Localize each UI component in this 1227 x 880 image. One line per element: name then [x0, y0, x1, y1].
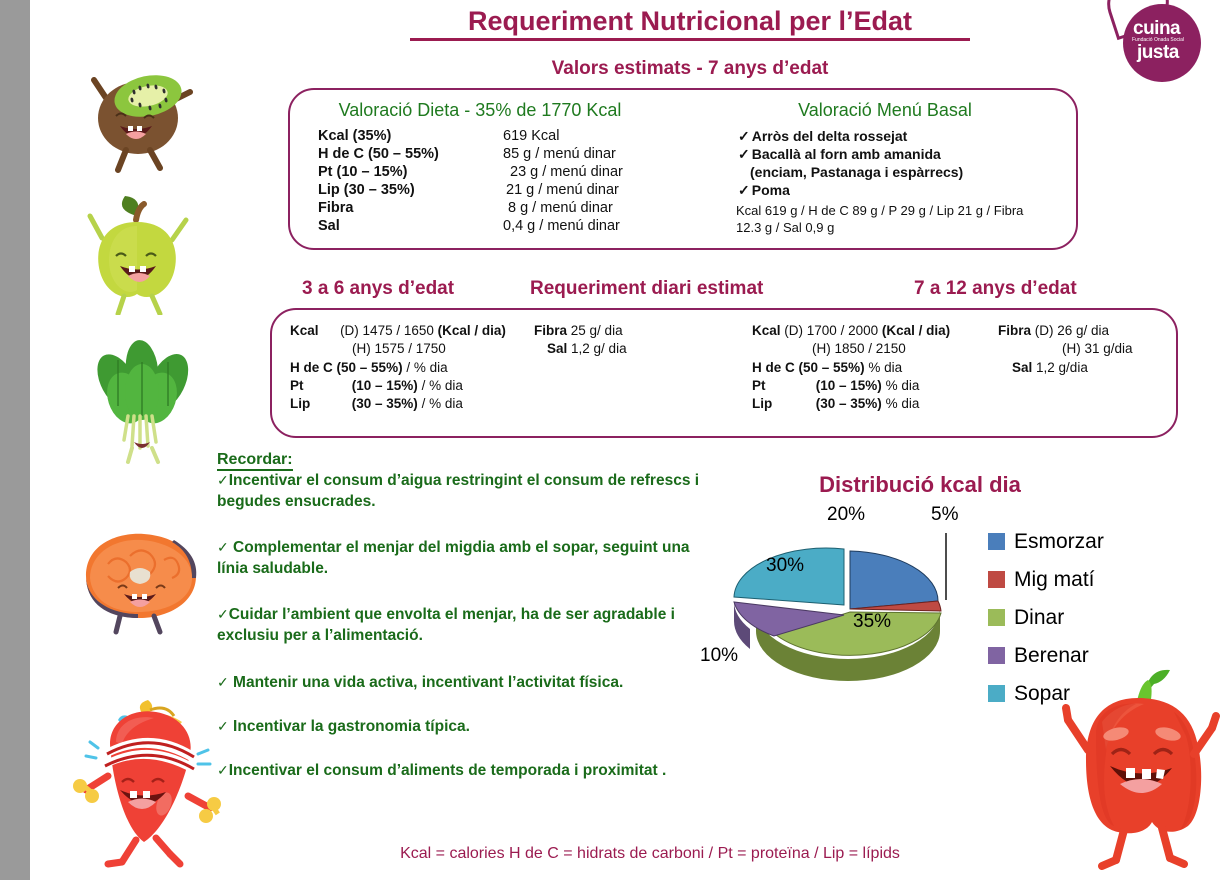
- dieta-label-0: Kcal (35%): [318, 128, 391, 144]
- pie-chart: 20% 5% 35% 10% 30%: [698, 505, 998, 695]
- req712-row1-label: Pt: [752, 377, 812, 395]
- req712-row2-unit: % dia: [886, 396, 920, 411]
- basal-item-3: Poma: [752, 182, 790, 198]
- dieta-value-2: 23 g / menú dinar: [510, 164, 623, 180]
- recordar-item-0-text: Incentivar el consum d’aigua restringint…: [217, 472, 699, 510]
- recordar-item-5: ✓Incentivar el consum d’aliments de temp…: [217, 760, 717, 781]
- recordar-item-5-text: Incentivar el consum d’aliments de tempo…: [229, 762, 667, 779]
- req36-kcal-h: (H) 1575 / 1750: [352, 341, 446, 356]
- dieta-value-4: 8 g / menú dinar: [508, 200, 613, 216]
- slide-canvas: 25 anys cuina Fundació Onada Social just…: [30, 0, 1227, 880]
- kiwi-mascot: [78, 58, 198, 173]
- recordar-title: Recordar:: [217, 450, 293, 471]
- req36-kcal-label: Kcal: [290, 323, 319, 338]
- req36-kcal-d: (D) 1475 / 1650: [340, 323, 434, 338]
- estimated-values-box: Valoració Dieta - 35% de 1770 Kcal Kcal …: [288, 88, 1078, 250]
- footer-legend-text: Kcal = calories H de C = hidrats de carb…: [290, 845, 1010, 863]
- legend-swatch-esmorzar: [988, 533, 1005, 550]
- req36-row0-label: H de C: [290, 360, 333, 375]
- req712-kcal-label: Kcal: [752, 323, 781, 338]
- req712-row1-value: (10 – 15%): [816, 378, 882, 393]
- apple-mascot: [72, 190, 202, 315]
- basal-item-2: (enciam, Pastanaga i espàrrecs): [750, 164, 963, 180]
- req36-row1-unit: / % dia: [422, 378, 463, 393]
- legend-swatch-berenar: [988, 647, 1005, 664]
- legend-label-esmorzar: Esmorzar: [1014, 524, 1104, 560]
- dieta-value-1: 85 g / menú dinar: [503, 146, 616, 162]
- basal-item-1: Bacallà al forn amb amanida: [752, 146, 941, 162]
- check-icon: ✓: [738, 182, 750, 198]
- req712-row0-label: H de C: [752, 360, 795, 375]
- req712-kcal-h: (H) 1850 / 2150: [812, 341, 906, 356]
- strawberry-mascot: [64, 692, 224, 872]
- recordar-item-2: ✓Cuidar l’ambient que envolta el menjar,…: [217, 604, 717, 646]
- basal-summary: Kcal 619 g / H de C 89 g / P 29 g / Lip …: [736, 202, 1036, 236]
- recordar-item-4-text: Incentivar la gastronomia típica.: [233, 718, 470, 735]
- page-title: Requeriment Nutricional per l’Edat: [410, 6, 970, 41]
- recordar-item-0: ✓Incentivar el consum d’aigua restringin…: [217, 470, 717, 512]
- dieta-label-5: Sal: [318, 218, 340, 234]
- pie-chart-svg: [698, 505, 998, 695]
- req36-row0-unit: / % dia: [406, 360, 447, 375]
- dieta-label-4: Fibra: [318, 200, 353, 216]
- req712-row0-value: (50 – 55%): [799, 360, 865, 375]
- check-icon: ✓: [217, 539, 229, 555]
- spinach-mascot: [78, 338, 208, 468]
- check-icon: ✓: [217, 674, 229, 690]
- req36-row1-value: (10 – 15%): [352, 378, 418, 393]
- req36-kcal-unit: (Kcal / dia): [438, 323, 506, 338]
- logo-line2: justa: [1137, 42, 1179, 64]
- chart-title: Distribució kcal dia: [770, 472, 1070, 498]
- dieta-label-2: Pt (10 – 15%): [318, 164, 407, 180]
- dieta-value-0: 619 Kcal: [503, 128, 559, 144]
- recordar-item-1: ✓ Complementar el menjar del migdia amb …: [217, 537, 717, 579]
- legend-item-mig-mati: Mig matí: [988, 562, 1148, 600]
- req712-fibra-label: Fibra: [998, 323, 1031, 338]
- req36-sal-label: Sal: [547, 341, 567, 356]
- daily-requirement-box: Kcal (D) 1475 / 1650 (Kcal / dia) (H) 15…: [270, 308, 1178, 438]
- req712-sal-label: Sal: [1012, 360, 1032, 375]
- req712-fibra-d: (D) 26 g/ dia: [1035, 323, 1109, 338]
- req712-row0-unit: % dia: [868, 360, 902, 375]
- dieta-value-3: 21 g / menú dinar: [506, 182, 619, 198]
- legend-swatch-sopar: [988, 685, 1005, 702]
- req36-row0-value: (50 – 55%): [337, 360, 403, 375]
- req36-row1-label: Pt: [290, 377, 348, 395]
- legend-item-dinar: Dinar: [988, 600, 1148, 638]
- dieta-label-3: Lip (30 – 35%): [318, 182, 415, 198]
- pie-slice-esmorzar: [850, 551, 938, 609]
- pie-label-dinar: 35%: [853, 611, 891, 633]
- basal-heading: Valoració Menú Basal: [695, 100, 1075, 121]
- dieta-value-5: 0,4 g / menú dinar: [503, 218, 620, 234]
- req36-fibra-label: Fibra: [534, 323, 567, 338]
- age-header-left: 3 a 6 anys d’edat: [302, 278, 454, 300]
- req36-row2-value: (30 – 35%): [352, 396, 418, 411]
- req36-fibra-value: 25 g/ dia: [571, 323, 623, 338]
- check-icon: ✓: [738, 128, 750, 144]
- age-header-right: 7 a 12 anys d’edat: [914, 278, 1077, 300]
- req712-kcal-unit: (Kcal / dia): [882, 323, 950, 338]
- recordar-item-1-text: Complementar el menjar del migdia amb el…: [217, 539, 690, 577]
- recordar-item-3-text: Mantenir una vida activa, incentivant l’…: [233, 674, 623, 691]
- check-icon: ✓: [738, 146, 750, 162]
- pie-label-berenar: 10%: [700, 645, 738, 667]
- recordar-item-3: ✓ Mantenir una vida activa, incentivant …: [217, 672, 717, 693]
- cuina-justa-logo: 25 anys cuina Fundació Onada Social just…: [1103, 0, 1221, 82]
- req36-sal-value: 1,2 g/ dia: [571, 341, 627, 356]
- pie-label-mig-mati: 5%: [931, 504, 958, 526]
- req36-row2-unit: / % dia: [422, 396, 463, 411]
- req36-row2-label: Lip: [290, 395, 348, 413]
- left-gray-strip: [0, 0, 30, 880]
- recordar-item-2-text: Cuidar l’ambient que envolta el menjar, …: [217, 606, 675, 644]
- req712-row2-label: Lip: [752, 395, 812, 413]
- legend-label-mig-mati: Mig matí: [1014, 562, 1095, 598]
- req712-kcal-d: (D) 1700 / 2000: [784, 323, 878, 338]
- check-icon: ✓: [217, 606, 229, 622]
- legend-swatch-mig-mati: [988, 571, 1005, 588]
- basal-item-0: Arròs del delta rossejat: [752, 128, 908, 144]
- legend-swatch-dinar: [988, 609, 1005, 626]
- legend-item-esmorzar: Esmorzar: [988, 524, 1148, 562]
- pie-label-sopar: 30%: [766, 555, 804, 577]
- dieta-heading: Valoració Dieta - 35% de 1770 Kcal: [290, 100, 670, 121]
- pepper-mascot: [1052, 662, 1227, 877]
- req712-fibra-h: (H) 31 g/dia: [1062, 341, 1133, 356]
- check-icon: ✓: [217, 472, 229, 488]
- req712-row1-unit: % dia: [886, 378, 920, 393]
- req712-sal-value: 1,2 g/dia: [1036, 360, 1088, 375]
- page-subtitle: Valors estimats - 7 anys d’edat: [410, 58, 970, 80]
- dieta-label-1: H de C (50 – 55%): [318, 146, 439, 162]
- legend-label-dinar: Dinar: [1014, 600, 1064, 636]
- recordar-item-4: ✓ Incentivar la gastronomia típica.: [217, 716, 717, 737]
- salmon-mascot: [68, 520, 213, 635]
- pie-label-esmorzar: 20%: [827, 504, 865, 526]
- age-header-center: Requeriment diari estimat: [530, 278, 763, 300]
- req712-row2-value: (30 – 35%): [816, 396, 882, 411]
